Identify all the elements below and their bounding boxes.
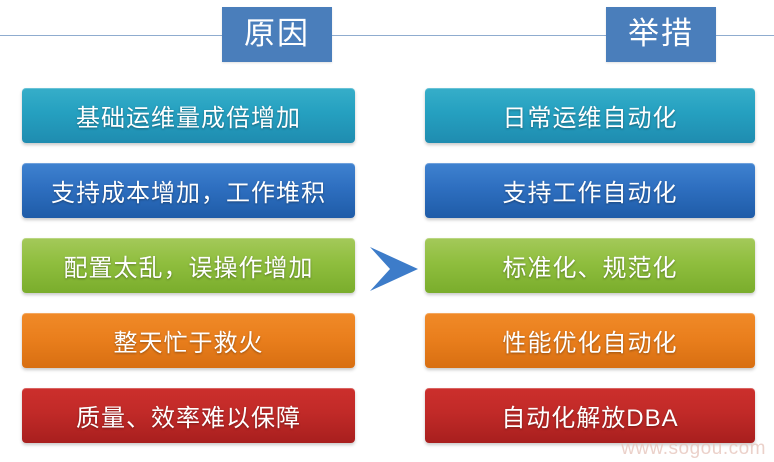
measure-bar-3: 标准化、规范化	[425, 238, 755, 293]
cause-bar-4: 整天忙于救火	[22, 313, 355, 368]
measure-bar-5: 自动化解放DBA	[425, 388, 755, 443]
measure-bar-4: 性能优化自动化	[425, 313, 755, 368]
header-rule-left-tail	[332, 35, 390, 36]
header-rule-right	[390, 35, 606, 36]
measures-column: 日常运维自动化 支持工作自动化 标准化、规范化 性能优化自动化 自动化解放DBA	[425, 88, 755, 443]
header-title-causes: 原因	[222, 7, 332, 62]
cause-bar-2: 支持成本增加，工作堆积	[22, 163, 355, 218]
chevron-right-icon	[366, 245, 422, 293]
measure-bar-1: 日常运维自动化	[425, 88, 755, 143]
cause-bar-2-label: 支持成本增加，工作堆积	[51, 173, 326, 208]
cause-bar-3-label: 配置太乱，误操作增加	[64, 248, 314, 283]
header-title-measures: 举措	[606, 7, 716, 62]
measure-bar-5-label: 自动化解放DBA	[501, 398, 678, 433]
header-rule-left	[0, 35, 222, 36]
cause-bar-3: 配置太乱，误操作增加	[22, 238, 355, 293]
cause-bar-1: 基础运维量成倍增加	[22, 88, 355, 143]
header-rule-right-tail	[716, 35, 774, 36]
header-row-causes: 原因	[0, 0, 390, 68]
measure-bar-2: 支持工作自动化	[425, 163, 755, 218]
cause-bar-4-label: 整天忙于救火	[114, 323, 264, 358]
cause-bar-5-label: 质量、效率难以保障	[76, 398, 301, 433]
measure-bar-4-label: 性能优化自动化	[503, 323, 678, 358]
causes-column: 基础运维量成倍增加 支持成本增加，工作堆积 配置太乱，误操作增加 整天忙于救火 …	[22, 88, 355, 443]
measure-bar-3-label: 标准化、规范化	[503, 248, 678, 283]
watermark: www.sogou.com	[621, 438, 766, 460]
measure-bar-2-label: 支持工作自动化	[503, 173, 678, 208]
measure-bar-1-label: 日常运维自动化	[503, 98, 678, 133]
cause-bar-5: 质量、效率难以保障	[22, 388, 355, 443]
cause-bar-1-label: 基础运维量成倍增加	[76, 98, 301, 133]
header-row-measures: 举措	[390, 0, 774, 68]
